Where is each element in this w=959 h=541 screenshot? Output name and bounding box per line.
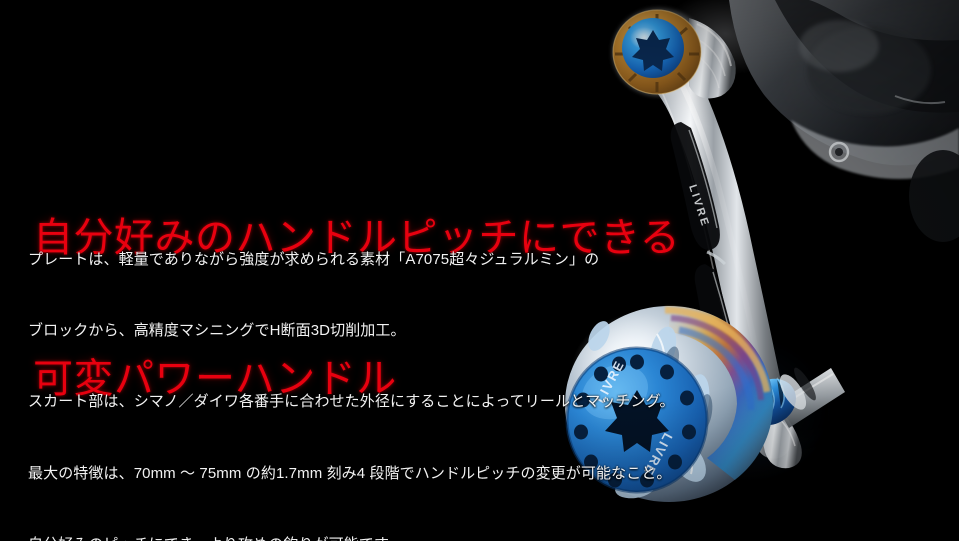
reel-body-backdrop [659,0,959,210]
body-line-2: ブロックから、高精度マシニングでH断面3D切削加工。 [28,319,675,343]
product-banner: LIVRE [0,0,959,541]
body-line-5: 自分好みのピッチにでき、より攻めの釣りが可能です。 [28,533,675,541]
body-line-4: 最大の特徴は、70mm ～ 75mm の約1.7mm 刻み4 段階でハンドルピッ… [28,462,675,486]
body-copy: プレートは、軽量でありながら強度が求められる素材「A7075超々ジュラルミン」の… [28,200,675,541]
body-line-3: スカート部は、シマノ／ダイワ各番手に合わせた外径にすることによってリールとマッチ… [28,390,675,414]
body-line-1: プレートは、軽量でありながら強度が求められる素材「A7075超々ジュラルミン」の [28,248,675,272]
